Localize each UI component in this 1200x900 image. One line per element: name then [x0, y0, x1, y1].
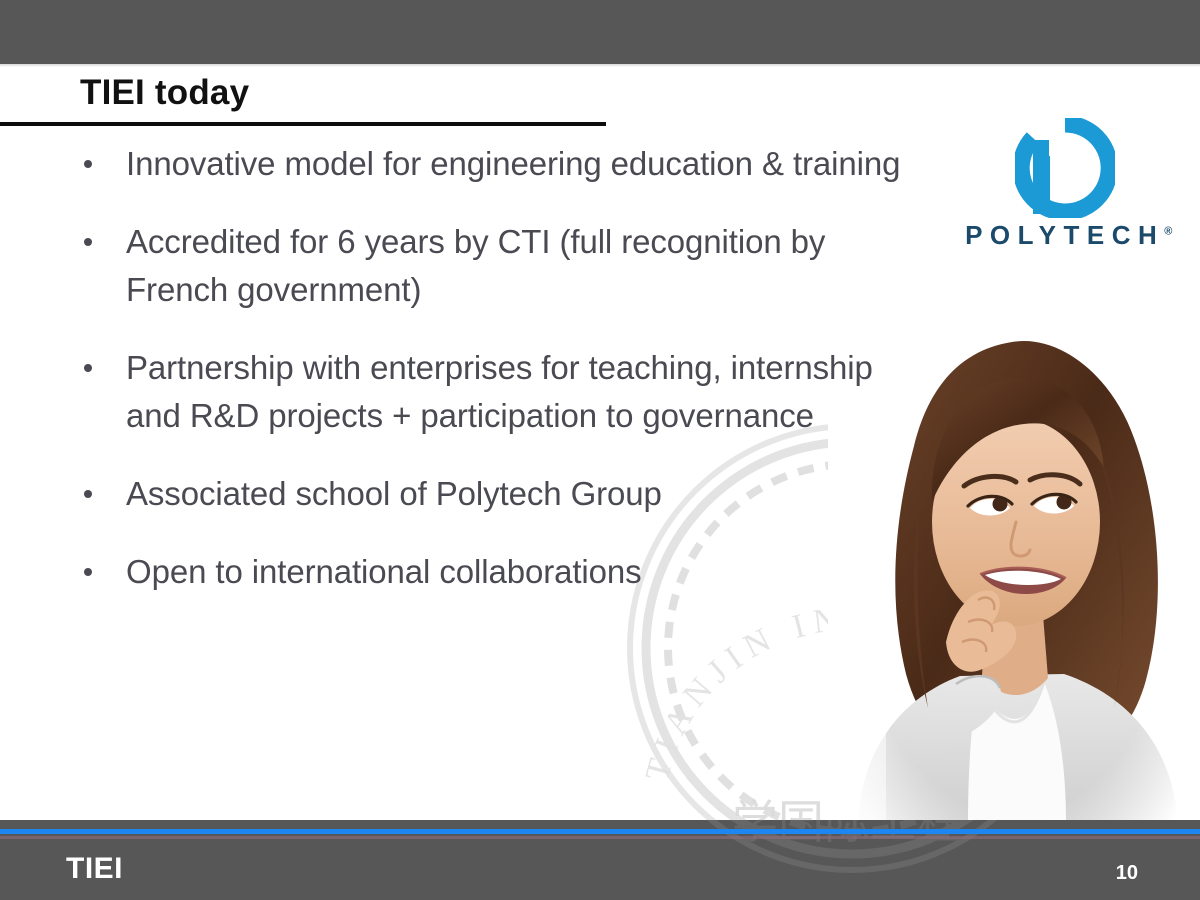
list-item-text: Open to international collaborations — [126, 553, 642, 590]
polytech-wordmark: POLYTECH® — [950, 220, 1180, 251]
registered-trademark-icon: ® — [1164, 225, 1172, 237]
presentation-slide: TIANJIN INTERNATIONAL 学国际工程 — [0, 0, 1200, 900]
list-item-text: Associated school of Polytech Group — [126, 475, 662, 512]
list-item: Open to international collaborations — [72, 548, 912, 596]
list-item: Associated school of Polytech Group — [72, 470, 912, 518]
polytech-mark-icon — [1015, 118, 1115, 218]
bullet-dot-icon — [84, 568, 92, 576]
svg-text:学国际工程: 学国际工程 — [732, 820, 962, 849]
footer-label: TIEI — [66, 852, 123, 886]
title-underline — [0, 122, 606, 126]
footer-accent-rule — [0, 836, 1200, 839]
bullet-list: Innovative model for engineering educati… — [72, 140, 912, 596]
list-item-text: Partnership with enterprises for teachin… — [126, 349, 873, 434]
bullet-dot-icon — [84, 364, 92, 372]
top-band — [0, 0, 1200, 64]
list-item-text: Accredited for 6 years by CTI (full reco… — [126, 223, 825, 308]
bullet-dot-icon — [84, 160, 92, 168]
polytech-wordmark-text: POLYTECH — [965, 220, 1164, 250]
page-title: TIEI today — [0, 70, 700, 116]
list-item: Innovative model for engineering educati… — [72, 140, 912, 188]
page-number: 10 — [1116, 862, 1138, 885]
list-item-text: Innovative model for engineering educati… — [126, 145, 900, 182]
top-band-shadow — [0, 64, 1200, 67]
bullet-dot-icon — [84, 490, 92, 498]
footer-blue-rule — [0, 829, 1200, 834]
footer-bar: 学国际工程 TIEI 10 — [0, 820, 1200, 900]
bullet-dot-icon — [84, 238, 92, 246]
list-item: Accredited for 6 years by CTI (full reco… — [72, 218, 912, 314]
list-item: Partnership with enterprises for teachin… — [72, 344, 912, 440]
polytech-logo: POLYTECH® — [950, 118, 1180, 263]
title-block: TIEI today — [0, 70, 700, 116]
